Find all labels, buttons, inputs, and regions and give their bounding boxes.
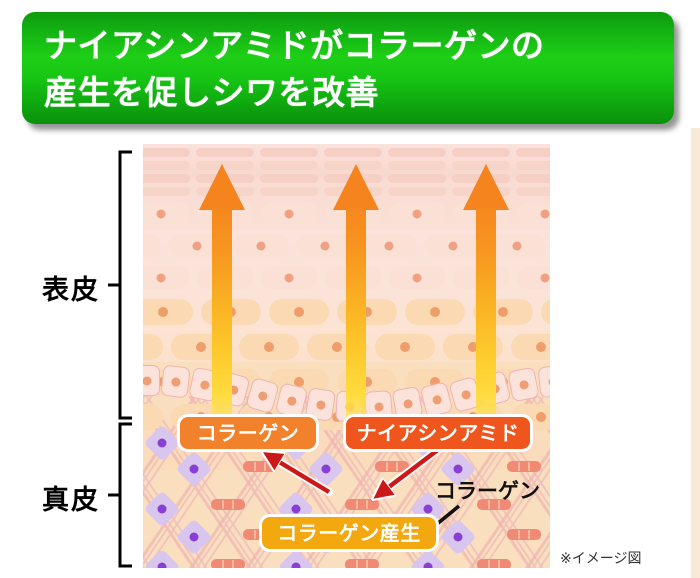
epidermis-bracket bbox=[108, 152, 132, 418]
label-collagen: コラーゲン bbox=[177, 414, 319, 452]
label-collagen-plain-text: コラーゲン bbox=[435, 475, 540, 505]
footnote-image-disclaimer: ※イメージ図 bbox=[560, 548, 641, 568]
layer-label-dermis: 真皮 bbox=[42, 478, 100, 517]
layer-label-epidermis: 表皮 bbox=[42, 268, 100, 307]
skin-cross-section-diagram: コラーゲン ナイアシンアミド コラーゲン産生 コラーゲン bbox=[143, 144, 550, 568]
label-niacinamide: ナイアシンアミド bbox=[343, 414, 533, 452]
dermis-bracket bbox=[108, 424, 132, 566]
label-collagen-production: コラーゲン産生 bbox=[259, 514, 439, 552]
